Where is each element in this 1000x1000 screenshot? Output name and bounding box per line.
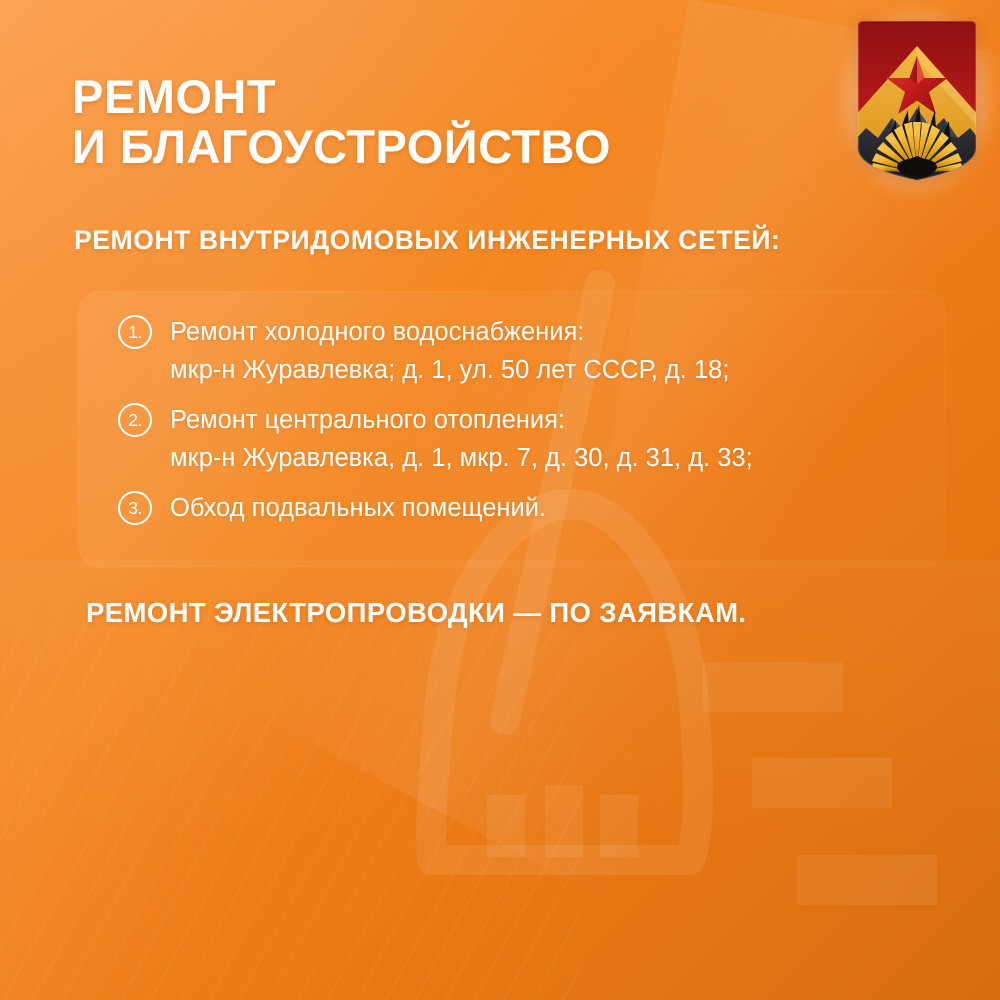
list-number-badge: 2. [118, 403, 152, 437]
coat-of-arms-icon [852, 18, 982, 183]
list-number-badge: 3. [118, 491, 152, 525]
works-list-card: 1. Ремонт холодного водоснабжения: мкр-н… [78, 291, 946, 567]
background-sheen-e [0, 620, 580, 1000]
list-item: 3. Обход подвальных помещений. [118, 489, 546, 527]
page-title: РЕМОНТ И БЛАГОУСТРОЙСТВО [72, 72, 832, 172]
list-item-text: Ремонт центрального отопления: мкр-н Жур… [170, 401, 753, 477]
footer-note: РЕМОНТ ЭЛЕКТРОПРОВОДКИ — ПО ЗАЯВКАМ. [86, 597, 746, 629]
list-item-line-2: мкр-н Журавлевка, д. 1, мкр. 7, д. 30, д… [170, 439, 753, 477]
list-item-line-1: Ремонт центрального отопления: [170, 401, 753, 439]
list-number-badge: 1. [118, 315, 152, 349]
list-item-line-1: Ремонт холодного водоснабжения: [170, 313, 729, 351]
list-item: 1. Ремонт холодного водоснабжения: мкр-н… [118, 313, 729, 389]
section-subtitle: РЕМОНТ ВНУТРИДОМОВЫХ ИНЖЕНЕРНЫХ СЕТЕЙ: [74, 225, 780, 256]
list-item: 2. Ремонт центрального отопления: мкр-н … [118, 401, 753, 477]
coat-of-arms-wrapper [852, 18, 982, 183]
list-item-line-1: Обход подвальных помещений. [170, 489, 546, 527]
list-item-text: Ремонт холодного водоснабжения: мкр-н Жу… [170, 313, 729, 389]
list-item-line-2: мкр-н Журавлевка; д. 1, ул. 50 лет СССР,… [170, 351, 729, 389]
title-line-2: И БЛАГОУСТРОЙСТВО [72, 122, 832, 172]
poster-root: РЕМОНТ И БЛАГОУСТРОЙСТВО [0, 0, 1000, 1000]
list-item-text: Обход подвальных помещений. [170, 489, 546, 527]
title-line-1: РЕМОНТ [72, 72, 832, 122]
